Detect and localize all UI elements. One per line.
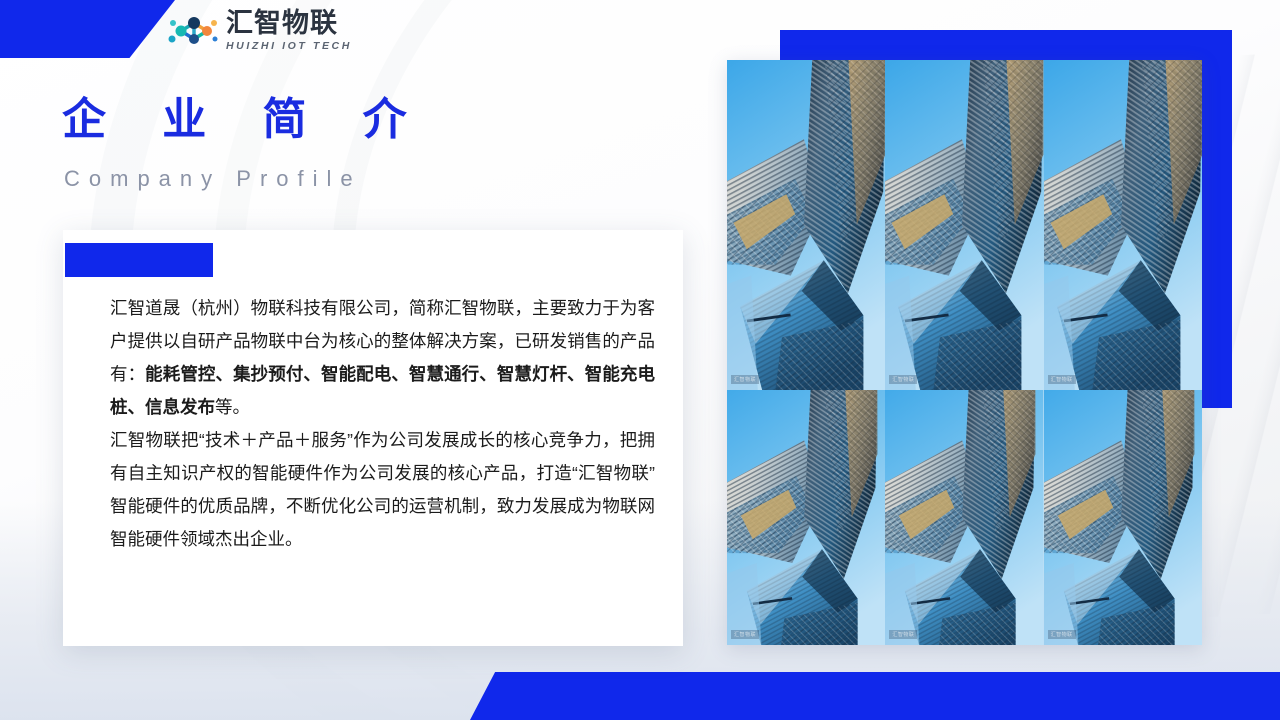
image-watermark: 汇智物联 (731, 630, 759, 639)
building-image-tile: 汇智物联 (885, 60, 1043, 390)
page-title-en: Company Profile (64, 168, 362, 190)
building-image-tile: 汇智物联 (1044, 390, 1202, 645)
image-watermark: 汇智物联 (1048, 375, 1076, 384)
image-watermark: 汇智物联 (731, 375, 759, 384)
image-watermark: 汇智物联 (889, 630, 917, 639)
building-image-grid: 汇智物联汇智物联汇智物联汇智物联汇智物联汇智物联 (727, 60, 1202, 645)
image-watermark: 汇智物联 (889, 375, 917, 384)
card-accent-tab (65, 243, 213, 277)
product-list-emphasis: 能耗管控、集抄预付、智能配电、智慧通行、智慧灯杆、智能充电桩、信息发布 (110, 364, 655, 417)
body-run: 汇智物联把“技术＋产品＋服务”作为公司发展成长的核心竞争力，把拥有自主知识产权的… (110, 430, 655, 549)
company-logo: 汇智物联 HUIZHI IOT TECH (166, 8, 352, 54)
page-title-zh: 企 业 简 介 (62, 98, 429, 142)
logo-name-en: HUIZHI IOT TECH (226, 41, 352, 52)
building-image-tile: 汇智物联 (1044, 60, 1202, 390)
decor-bottom-blue-parallelogram (470, 672, 1280, 720)
huizhi-molecule-logo-icon (166, 8, 218, 54)
slide-canvas: 汇智物联 HUIZHI IOT TECH 企 业 简 介 Company Pro… (0, 0, 1280, 720)
building-image-tile: 汇智物联 (727, 60, 885, 390)
image-watermark: 汇智物联 (1048, 630, 1076, 639)
logo-name-cn: 汇智物联 (226, 10, 352, 37)
body-run: 等。 (215, 397, 250, 417)
card-paragraph: 汇智道晟（杭州）物联科技有限公司，简称汇智物联，主要致力于为客户提供以自研产品物… (110, 292, 655, 424)
card-body-text: 汇智道晟（杭州）物联科技有限公司，简称汇智物联，主要致力于为客户提供以自研产品物… (110, 292, 655, 556)
building-image-tile: 汇智物联 (885, 390, 1043, 645)
profile-card: 汇智道晟（杭州）物联科技有限公司，简称汇智物联，主要致力于为客户提供以自研产品物… (63, 230, 683, 646)
card-paragraph: 汇智物联把“技术＋产品＋服务”作为公司发展成长的核心竞争力，把拥有自主知识产权的… (110, 424, 655, 556)
building-image-tile: 汇智物联 (727, 390, 885, 645)
